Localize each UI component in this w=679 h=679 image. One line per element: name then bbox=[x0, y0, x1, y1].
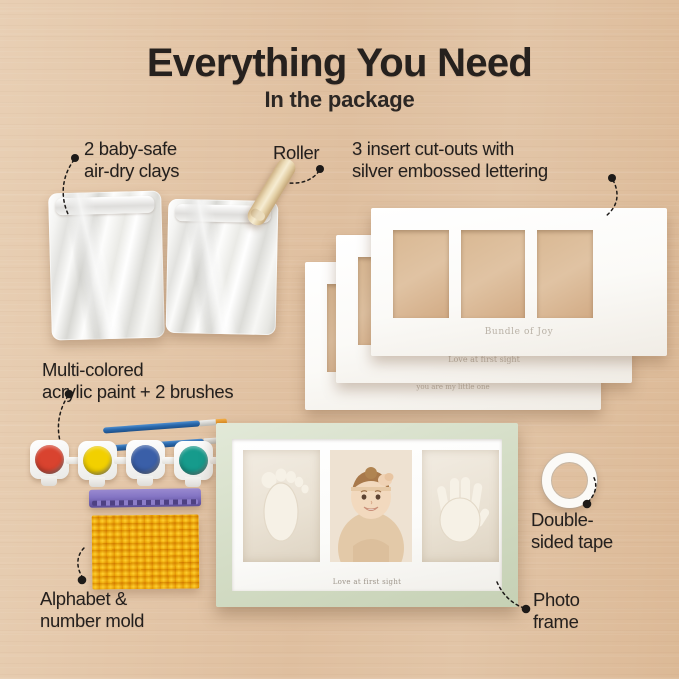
insert-lettering-3: you are my little one bbox=[305, 383, 601, 391]
frame-caption: Love at first sight bbox=[232, 578, 502, 586]
paint-well-yellow bbox=[83, 446, 112, 475]
insert-lettering-2: Love at first sight bbox=[336, 355, 632, 364]
paint-pot-blue bbox=[126, 440, 165, 479]
handprint-icon bbox=[422, 450, 499, 562]
insert-cutout-back: Bundle of Joy bbox=[371, 208, 667, 356]
mold-press-bar bbox=[89, 488, 201, 508]
insert-window bbox=[393, 230, 449, 318]
label-paint: Multi-colored acrylic paint + 2 brushes bbox=[42, 359, 233, 402]
footprint-cast bbox=[243, 450, 320, 562]
label-alphabet-mold: Alphabet & number mold bbox=[40, 588, 144, 631]
frame-mat: Love at first sight bbox=[232, 439, 502, 591]
leader-alphabet bbox=[78, 548, 87, 584]
baby-photo-pane bbox=[330, 450, 412, 562]
insert-window bbox=[461, 230, 525, 318]
paint-pot-teal bbox=[174, 441, 213, 480]
paint-pot-red bbox=[30, 440, 69, 479]
label-clays: 2 baby-safe air-dry clays bbox=[84, 138, 179, 181]
insert-lettering-1: Bundle of Joy bbox=[371, 327, 667, 337]
baby-portrait-illustration bbox=[330, 450, 412, 562]
paint-well-teal bbox=[179, 446, 208, 475]
handprint-cast bbox=[422, 450, 499, 562]
brush-handle bbox=[103, 420, 200, 433]
label-photo-frame: Photo frame bbox=[533, 589, 580, 632]
paint-well-red bbox=[35, 445, 64, 474]
label-roller: Roller bbox=[273, 142, 319, 164]
footprint-icon bbox=[243, 450, 320, 562]
paint-pot-tab bbox=[185, 477, 201, 487]
label-inserts: 3 insert cut-outs with silver embossed l… bbox=[352, 138, 548, 181]
alphabet-number-mold-grid bbox=[92, 514, 200, 589]
product-infographic: Everything You Need In the package you a… bbox=[0, 0, 679, 679]
double-sided-tape-roll bbox=[542, 453, 597, 508]
paint-brush-1 bbox=[103, 418, 227, 433]
paint-pot-yellow bbox=[78, 441, 117, 480]
paint-pot-tab bbox=[137, 476, 153, 486]
paint-well-blue bbox=[131, 445, 160, 474]
paint-pot-tab bbox=[41, 476, 57, 486]
handprint-pane bbox=[422, 450, 499, 562]
paint-pot-tab bbox=[89, 477, 105, 487]
page-subtitle: In the package bbox=[0, 87, 679, 113]
baby-photo bbox=[330, 450, 412, 562]
footprint-pane bbox=[243, 450, 320, 562]
clay-packet-left bbox=[48, 191, 165, 341]
label-double-sided-tape: Double- sided tape bbox=[531, 509, 613, 552]
insert-window bbox=[537, 230, 593, 318]
photo-frame: Love at first sight bbox=[216, 423, 518, 607]
page-title: Everything You Need bbox=[0, 41, 679, 86]
brush-ferrule bbox=[199, 419, 216, 426]
